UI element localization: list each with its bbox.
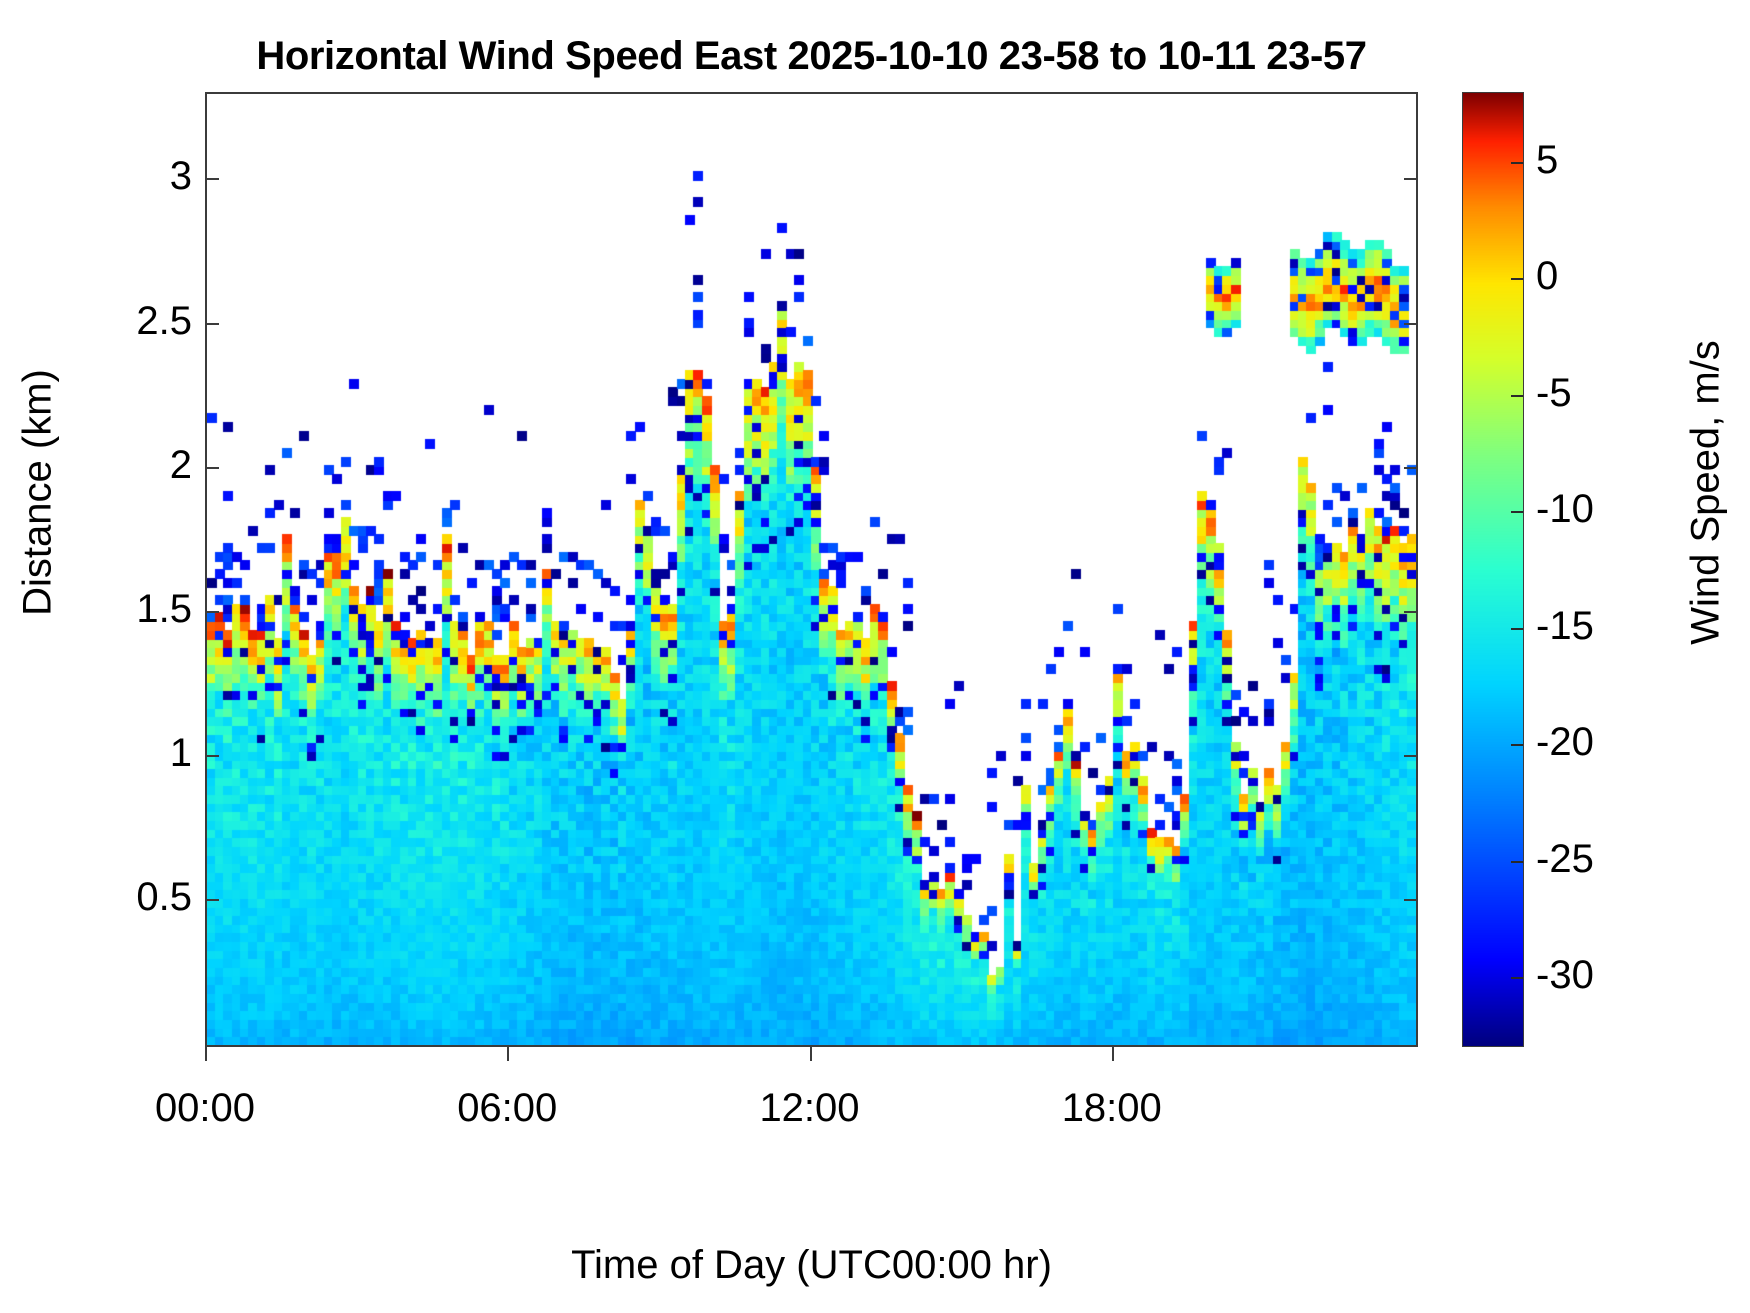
y-tick-mark — [205, 899, 219, 901]
y-tick-mark — [205, 755, 219, 757]
colorbar-tick-label: 0 — [1536, 256, 1656, 296]
colorbar-tick-label: -30 — [1536, 955, 1656, 995]
y-tick-label: 2 — [72, 445, 192, 485]
colorbar-tick-label: -20 — [1536, 722, 1656, 762]
y-axis-label: Distance (km) — [16, 283, 61, 703]
figure-canvas: Horizontal Wind Speed East 2025-10-10 23… — [0, 0, 1750, 1313]
colorbar-tick-mark — [1511, 162, 1523, 164]
colorbar-tick-mark — [1511, 628, 1523, 630]
x-tick-label: 00:00 — [105, 1086, 305, 1131]
colorbar-tick-label: -15 — [1536, 606, 1656, 646]
y-tick-mark — [205, 323, 219, 325]
y-tick-label: 1 — [72, 733, 192, 773]
y-tick-label: 0.5 — [72, 877, 192, 917]
y-tick-mark-right — [1404, 899, 1418, 901]
x-tick-label: 12:00 — [710, 1086, 910, 1131]
colorbar-label: Wind Speed, m/s — [1684, 283, 1729, 703]
heatmap-image — [207, 94, 1416, 1045]
x-tick-mark — [507, 1047, 509, 1061]
x-tick-mark — [205, 1047, 207, 1061]
y-tick-mark-right — [1404, 178, 1418, 180]
colorbar-gradient — [1463, 93, 1523, 1046]
page-title: Horizontal Wind Speed East 2025-10-10 23… — [205, 34, 1418, 79]
colorbar-tick-mark — [1511, 977, 1523, 979]
colorbar-tick-mark — [1511, 278, 1523, 280]
colorbar-tick-mark — [1511, 744, 1523, 746]
x-tick-mark — [810, 1047, 812, 1061]
y-tick-mark — [205, 178, 219, 180]
y-tick-mark — [205, 611, 219, 613]
y-tick-mark-right — [1404, 323, 1418, 325]
y-tick-label: 2.5 — [72, 301, 192, 341]
y-tick-mark — [205, 467, 219, 469]
y-tick-label: 3 — [72, 156, 192, 196]
y-tick-mark-right — [1404, 611, 1418, 613]
colorbar-tick-mark — [1511, 861, 1523, 863]
colorbar-tick-label: -10 — [1536, 489, 1656, 529]
y-tick-mark-right — [1404, 755, 1418, 757]
colorbar-tick-label: 5 — [1536, 140, 1656, 180]
y-tick-label: 1.5 — [72, 589, 192, 629]
x-tick-mark — [1112, 1047, 1114, 1061]
colorbar[interactable] — [1462, 92, 1524, 1047]
x-tick-label: 06:00 — [407, 1086, 607, 1131]
colorbar-tick-label: -25 — [1536, 839, 1656, 879]
x-tick-label: 18:00 — [1012, 1086, 1212, 1131]
x-axis-label: Time of Day (UTC00:00 hr) — [205, 1243, 1418, 1288]
y-tick-mark-right — [1404, 467, 1418, 469]
colorbar-tick-label: -5 — [1536, 373, 1656, 413]
plot-area[interactable] — [205, 92, 1418, 1047]
colorbar-tick-mark — [1511, 395, 1523, 397]
colorbar-tick-mark — [1511, 511, 1523, 513]
